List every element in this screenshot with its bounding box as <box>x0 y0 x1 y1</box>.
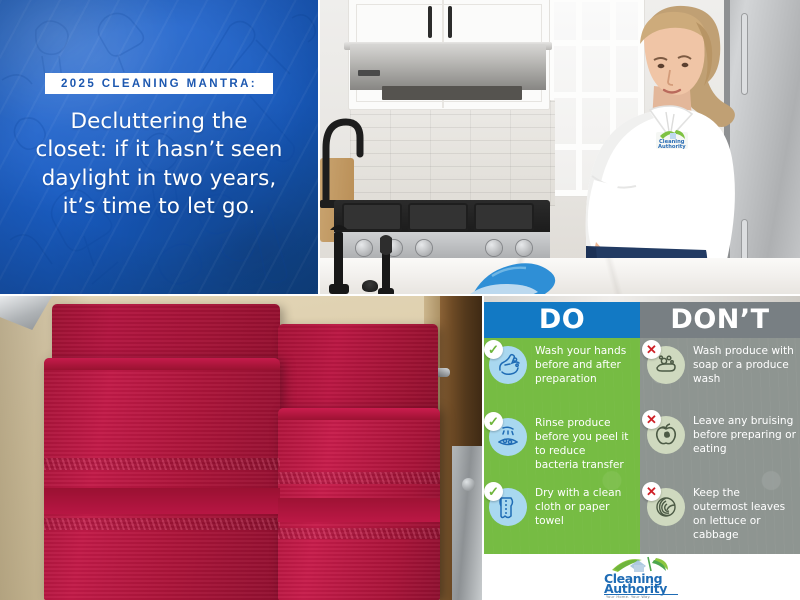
cleaning-authority-logo-patch: Cleaning Authority <box>656 130 688 150</box>
brand-tagline: Your Home. Your Way. <box>606 595 651 599</box>
panel-seam-horizontal <box>0 294 800 296</box>
mantra-quote-text: Decluttering the closet: if it hasn’t se… <box>32 108 286 222</box>
towel-dobby-band <box>44 488 280 514</box>
towel-front-left <box>44 358 280 600</box>
cabinet-handle-icon <box>428 6 432 38</box>
dont-tip-1-text: Wash produce with soap or a produce wash <box>686 342 797 386</box>
dont-tip-1: ✕ Wash produce with soap or a produce wa… <box>644 342 797 386</box>
do-tip-3-badge: ✓ <box>486 484 528 526</box>
towel-fold-edge-right <box>278 408 440 420</box>
do-tip-1: ✓ Wash your hands before and after prepa… <box>486 342 631 386</box>
cabinet-handle-icon <box>448 6 452 38</box>
infographic-header: DO DON’T <box>484 302 800 338</box>
mantra-card-panel: 2025 CLEANING MANTRA: Decluttering the c… <box>0 0 318 294</box>
burner-grate <box>408 203 468 231</box>
sink-sprayer-icon <box>376 234 396 294</box>
infographic-body: ✓ Wash your hands before and after prepa… <box>484 338 800 554</box>
cleaning-professional-figure: Cleaning Authority <box>546 0 746 294</box>
do-column: ✓ Wash your hands before and after prepa… <box>484 338 640 554</box>
dont-tip-2-badge: ✕ <box>644 412 686 454</box>
burner-grate <box>474 203 534 231</box>
dont-tip-2-text: Leave any bruising before preparing or e… <box>686 412 797 456</box>
range-hood-underside <box>382 86 522 100</box>
range-hood-badge <box>358 70 380 76</box>
dont-header: DON’T <box>640 302 800 338</box>
dont-tip-2: ✕ Leave any bruising before preparing or… <box>644 412 797 456</box>
mantra-content: 2025 CLEANING MANTRA: Decluttering the c… <box>0 0 318 294</box>
pot-filler-faucet-icon <box>320 108 364 208</box>
range-knob <box>356 240 372 256</box>
dont-column: ✕ Wash produce with soap or a produce wa… <box>640 338 800 554</box>
mantra-eyebrow-label: 2025 CLEANING MANTRA: <box>45 73 273 94</box>
blue-cleaning-cloth-icon <box>468 252 564 294</box>
counter-drain-cap <box>362 280 378 292</box>
door-metal-plate <box>452 446 482 600</box>
x-icon: ✕ <box>642 410 661 429</box>
door-screw <box>462 478 475 491</box>
do-tip-2-badge: ✓ <box>486 414 528 456</box>
dont-tip-3-text: Keep the outermost leaves on lettuce or … <box>686 484 797 542</box>
do-tip-1-badge: ✓ <box>486 342 528 384</box>
infographic-footer: Cleaning Authority Your Home. Your Way. <box>484 554 800 600</box>
panel-seam-vertical-top <box>318 0 320 296</box>
do-tip-2: ✓ Rinse produce before you peel it to re… <box>486 414 631 472</box>
dont-tip-3-badge: ✕ <box>644 484 686 526</box>
towel-dobby-band <box>278 528 440 539</box>
check-icon: ✓ <box>484 482 503 501</box>
check-icon: ✓ <box>484 412 503 431</box>
dont-header-label: DON’T <box>670 306 769 333</box>
towel-dobby-band <box>44 518 280 530</box>
do-tip-1-text: Wash your hands before and after prepara… <box>528 342 631 386</box>
towel-fold-edge-left <box>44 358 280 370</box>
do-tip-3: ✓ Dry with a clean cloth or paper towel <box>486 484 631 528</box>
dont-tip-3: ✕ Keep the outermost leaves on lettuce o… <box>644 484 797 542</box>
svg-text:Authority: Authority <box>658 144 686 150</box>
do-tip-2-text: Rinse produce before you peel it to redu… <box>528 414 631 472</box>
towel-dobby-band <box>44 458 280 470</box>
sink-faucet-icon <box>328 218 350 294</box>
towel-dobby-band <box>278 498 440 522</box>
dont-tip-1-badge: ✕ <box>644 342 686 384</box>
subway-tile-backsplash <box>350 100 555 206</box>
do-header-label: DO <box>539 306 585 333</box>
cleaning-authority-logo: Cleaning Authority Your Home. Your Way. <box>594 556 690 598</box>
check-icon: ✓ <box>484 340 503 359</box>
burner-grate <box>342 203 402 231</box>
range-knob <box>416 240 432 256</box>
x-icon: ✕ <box>642 340 661 359</box>
collage-canvas: 2025 CLEANING MANTRA: Decluttering the c… <box>0 0 800 600</box>
range-hood <box>350 44 546 90</box>
panel-seam-vertical-bottom <box>482 296 484 600</box>
x-icon: ✕ <box>642 482 661 501</box>
towel-dobby-band <box>278 472 440 484</box>
towels-photo-panel <box>0 296 482 600</box>
do-header: DO <box>484 302 640 338</box>
do-tip-3-text: Dry with a clean cloth or paper towel <box>528 484 631 528</box>
do-dont-infographic-panel: DO DON’T <box>484 296 800 600</box>
kitchen-photo-panel: Cleaning Authority <box>320 0 800 294</box>
